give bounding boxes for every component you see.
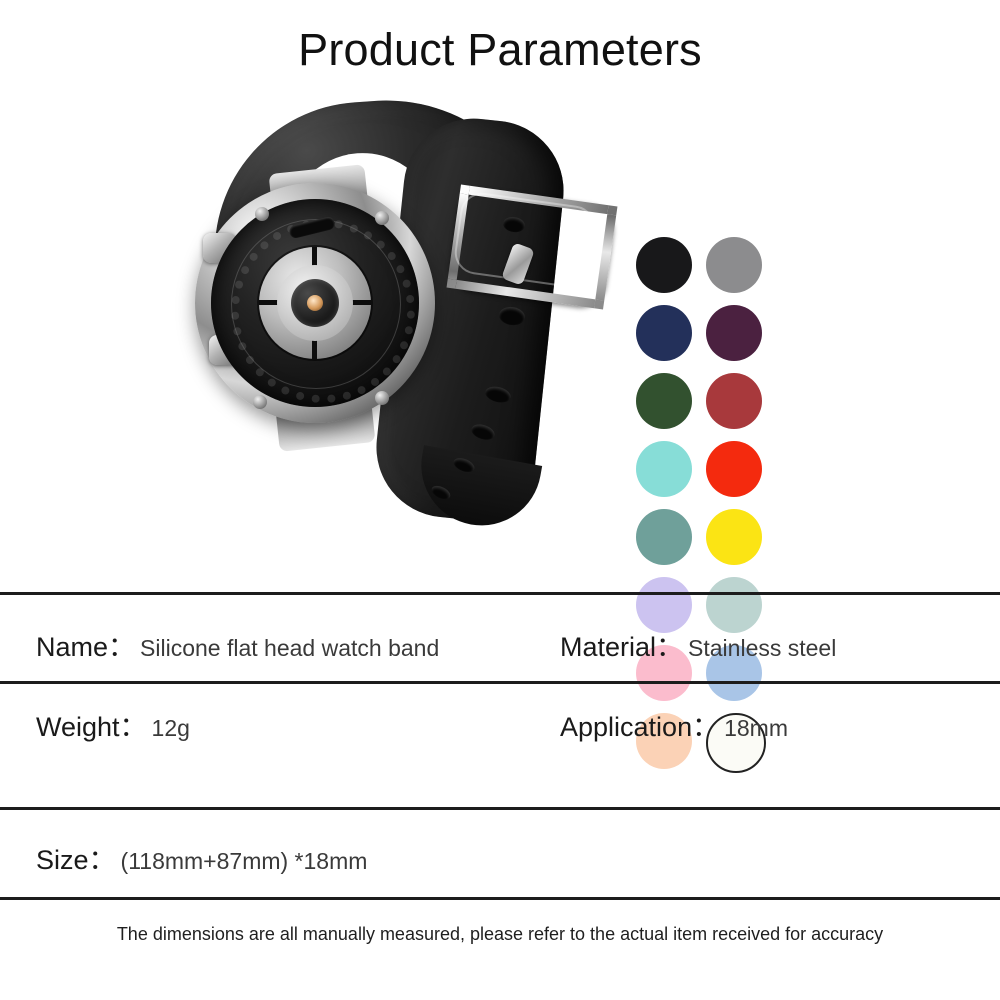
spec-label-material: Material： — [560, 632, 683, 662]
color-swatch-teal-grey[interactable] — [636, 509, 692, 565]
measurement-disclaimer: The dimensions are all manually measured… — [0, 924, 1000, 945]
spec-divider-second — [0, 681, 1000, 684]
color-swatch-dark-green[interactable] — [636, 373, 692, 429]
color-swatch-aqua-mint[interactable] — [636, 441, 692, 497]
color-swatch-black[interactable] — [636, 237, 692, 293]
color-swatch-dark-purple[interactable] — [706, 305, 762, 361]
spec-cell-size: Size：(118mm+87mm) *18mm — [36, 838, 367, 877]
product-image — [185, 95, 625, 535]
spec-value-weight: 12g — [152, 715, 190, 741]
product-hero — [0, 95, 1000, 565]
page-title: Product Parameters — [0, 22, 1000, 78]
heart-rate-sensor-led — [307, 295, 323, 311]
case-screw — [375, 391, 389, 405]
spec-cell-material: Material：Stainless steel — [560, 625, 836, 664]
spec-value-material: Stainless steel — [688, 635, 836, 661]
case-screw — [253, 395, 267, 409]
spec-value-application: 18mm — [724, 715, 788, 741]
case-screw — [375, 211, 389, 225]
spec-cell-application: Application：18mm — [560, 705, 788, 744]
spec-value-name: Silicone flat head watch band — [140, 635, 439, 661]
spec-divider-third — [0, 807, 1000, 810]
spec-label-weight: Weight： — [36, 712, 147, 742]
spec-cell-name: Name：Silicone flat head watch band — [36, 625, 439, 664]
color-swatch-yellow[interactable] — [706, 509, 762, 565]
spec-divider-top — [0, 592, 1000, 595]
case-screw — [255, 207, 269, 221]
spec-label-size: Size： — [36, 845, 116, 875]
color-swatch-navy-blue[interactable] — [636, 305, 692, 361]
spec-divider-bottom — [0, 897, 1000, 900]
spec-label-application: Application： — [560, 712, 719, 742]
spec-label-name: Name： — [36, 632, 135, 662]
color-swatch-red[interactable] — [706, 441, 762, 497]
color-swatch-grey[interactable] — [706, 237, 762, 293]
spec-cell-weight: Weight：12g — [36, 705, 190, 744]
color-swatch-brick-red[interactable] — [706, 373, 762, 429]
color-swatch-grid — [636, 237, 766, 773]
spec-value-size: (118mm+87mm) *18mm — [121, 848, 368, 874]
